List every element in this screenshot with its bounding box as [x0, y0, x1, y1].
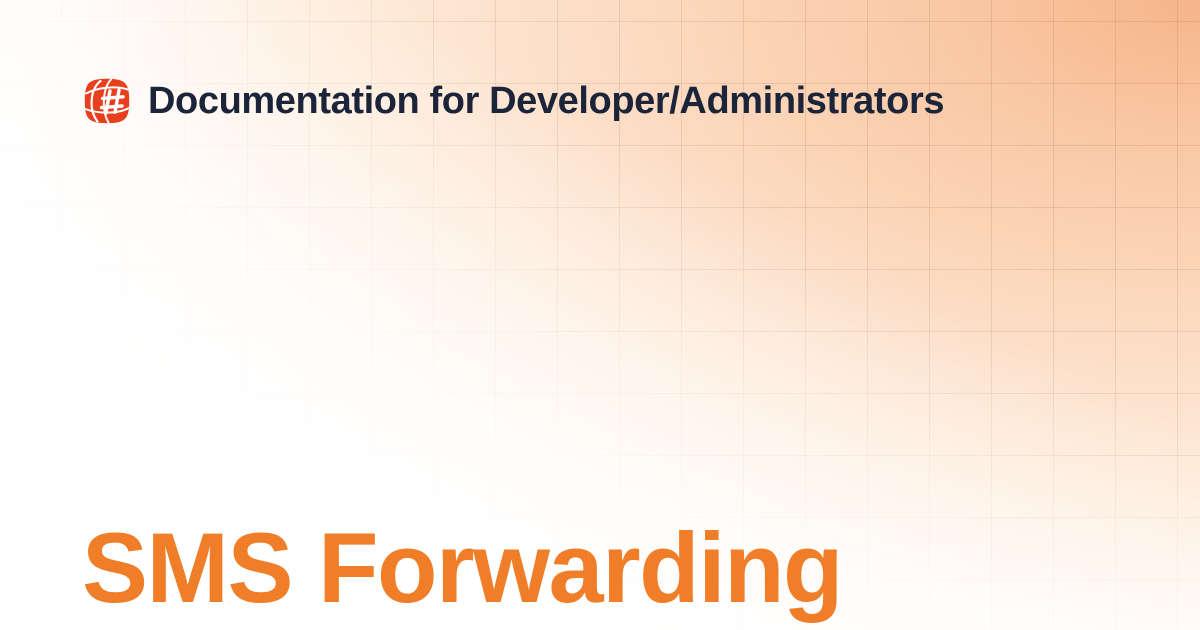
card-content: Documentation for Developer/Administrato…: [0, 0, 1200, 630]
page-title: SMS Forwarding: [82, 518, 842, 617]
og-card: Documentation for Developer/Administrato…: [0, 0, 1200, 630]
globe-hash-logo-icon: [84, 78, 130, 124]
brand-header: Documentation for Developer/Administrato…: [84, 78, 944, 124]
brand-title: Documentation for Developer/Administrato…: [148, 82, 944, 120]
